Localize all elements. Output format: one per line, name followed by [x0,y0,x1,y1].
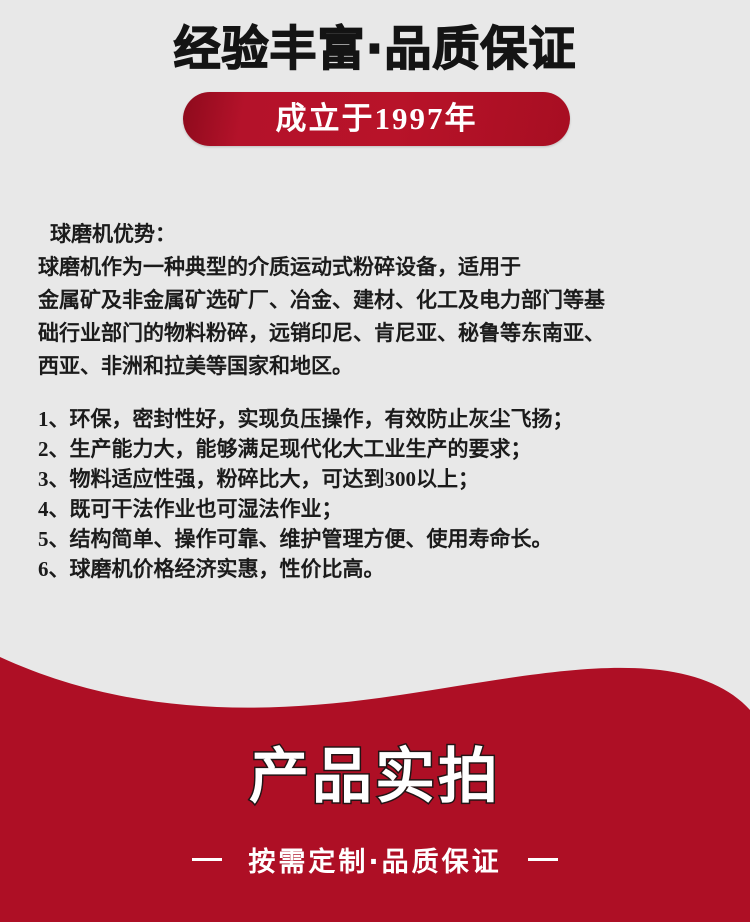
paragraph-line: 金属矿及非金属矿选矿厂、冶金、建材、化工及电力部门等基 [38,284,650,317]
list-item: 6、球磨机价格经济实惠，性价比高。 [38,554,728,584]
paragraph-line: 西亚、非洲和拉美等国家和地区。 [38,350,650,383]
established-badge: 成立于1997年 [183,92,570,146]
product-showcase-subtitle-text: 按需定制·品质保证 [248,843,501,883]
dash-right-icon [528,858,558,861]
feature-list: 1、环保，密封性好，实现负压操作，有效防止灰尘飞扬； 2、生产能力大，能够满足现… [38,404,728,584]
list-item: 4、既可干法作业也可湿法作业； [38,494,728,524]
product-showcase-title: 产品实拍 [0,740,750,814]
product-showcase-subtitle: 按需定制·品质保证 [0,842,750,883]
list-item: 5、结构简单、操作可靠、维护管理方便、使用寿命长。 [38,524,728,554]
advantages-paragraph: 球磨机作为一种典型的介质运动式粉碎设备，适用于 金属矿及非金属矿选矿厂、冶金、建… [38,251,650,383]
product-showcase-panel: 产品实拍 按需定制·品质保证 [0,640,750,922]
promo-banner-page: 经验丰富·品质保证 成立于1997年 球磨机优势： 球磨机作为一种典型的介质运动… [0,0,750,922]
advantages-copy-block: 球磨机优势： 球磨机作为一种典型的介质运动式粉碎设备，适用于 金属矿及非金属矿选… [38,218,718,383]
advantages-lead-label: 球磨机优势： [50,218,718,251]
page-title: 经验丰富·品质保证 [0,20,750,80]
established-badge-label: 成立于1997年 [183,92,570,146]
paragraph-line: 础行业部门的物料粉碎，远销印尼、肯尼亚、秘鲁等东南亚、 [38,317,650,350]
product-showcase-content: 产品实拍 按需定制·品质保证 [0,640,750,922]
list-item: 1、环保，密封性好，实现负压操作，有效防止灰尘飞扬； [38,404,728,434]
paragraph-line: 球磨机作为一种典型的介质运动式粉碎设备，适用于 [38,251,650,284]
list-item: 3、物料适应性强，粉碎比大，可达到300以上； [38,464,728,494]
list-item: 2、生产能力大，能够满足现代化大工业生产的要求； [38,434,728,464]
dash-left-icon [192,858,222,861]
header-block: 经验丰富·品质保证 成立于1997年 [0,0,750,170]
